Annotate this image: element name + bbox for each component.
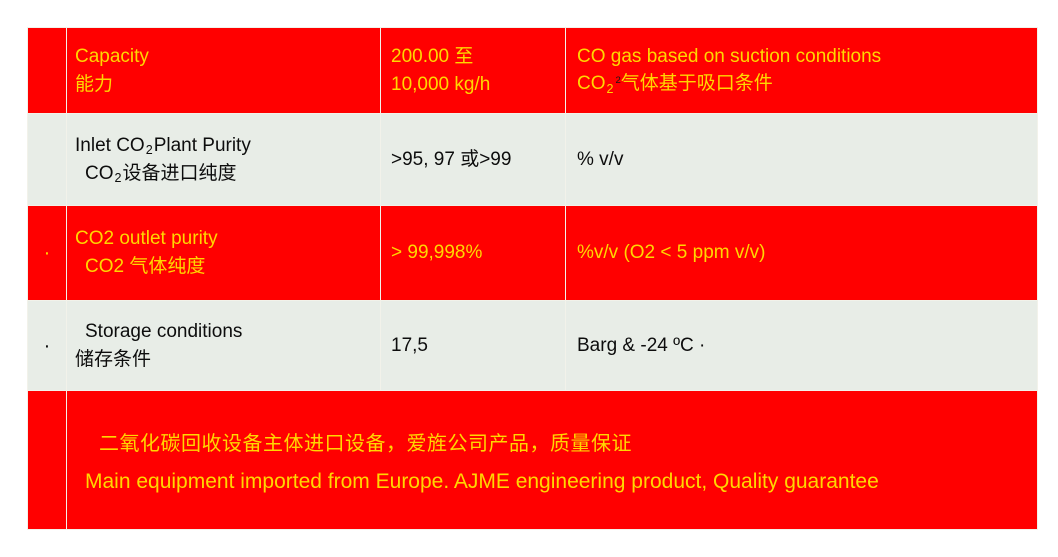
label-cn-suffix-inlet-purity: 设备进口纯度 (122, 163, 236, 184)
row-unit-cell-inlet-purity: % v/v (566, 114, 1038, 206)
row-unit-cell-outlet-purity: %v/v (O2 < 5 ppm v/v) (566, 206, 1038, 301)
label-en-prefix-inlet-purity: Inlet CO (75, 135, 145, 156)
value-line2-capacity: 10,000 kg/h (391, 71, 565, 99)
row-bullet-cell-inlet-purity (28, 114, 67, 206)
table-row-footer: 二氧化碳回收设备主体进口设备，爱旌公司产品，质量保证 Main equipmen… (28, 391, 1038, 530)
unit-block-outlet-purity: %v/v (O2 < 5 ppm v/v) (566, 239, 1037, 267)
row-label-cell-capacity: Capacity 能力 (67, 28, 381, 114)
unit-line2-prefix-capacity: CO (577, 73, 606, 94)
label-en-outlet-purity: CO2 outlet purity (75, 225, 380, 253)
row-bullet-cell-outlet-purity: · (28, 206, 67, 301)
label-block-capacity: Capacity 能力 (67, 43, 380, 98)
footer-text-en: Main equipment imported from Europe. AJM… (85, 470, 1037, 494)
label-block-outlet-purity: CO2 outlet purity CO2 气体纯度 (67, 225, 380, 280)
label-cn-inlet-purity: CO2设备进口纯度 (75, 160, 380, 188)
row-unit-cell-capacity: CO gas based on suction conditions CO22气… (566, 28, 1038, 114)
bullet-marker: · (28, 243, 66, 263)
row-label-cell-storage-conditions: Storage conditions 储存条件 (67, 301, 381, 391)
value-block-inlet-purity: >95, 97 或>99 (381, 146, 565, 174)
value-block-storage-conditions: 17,5 (381, 332, 565, 360)
value-line1-capacity: 200.00 至 (391, 43, 565, 71)
value-line1-storage-conditions: 17,5 (391, 332, 565, 360)
label-en-subscript-inlet-purity: 2 (145, 143, 154, 157)
unit-line2-capacity: CO22气体基于吸口条件 (577, 70, 1037, 98)
label-block-inlet-purity: Inlet CO2Plant Purity CO2设备进口纯度 (67, 132, 380, 187)
unit-line2-suffix-capacity: 气体基于吸口条件 (621, 73, 773, 94)
value-block-outlet-purity: > 99,998% (381, 239, 565, 267)
label-cn-prefix-inlet-purity: CO (85, 163, 114, 184)
unit-line1-inlet-purity: % v/v (577, 146, 1037, 174)
row-value-cell-inlet-purity: >95, 97 或>99 (381, 114, 566, 206)
label-block-storage-conditions: Storage conditions 储存条件 (67, 318, 380, 373)
specification-table: Capacity 能力 200.00 至 10,000 kg/h CO gas … (27, 27, 1038, 530)
unit-line1-capacity: CO gas based on suction conditions (577, 43, 1037, 71)
unit-line1-outlet-purity: %v/v (O2 < 5 ppm v/v) (577, 239, 1037, 267)
footer-guarantee-cell: 二氧化碳回收设备主体进口设备，爱旌公司产品，质量保证 Main equipmen… (67, 391, 1038, 530)
label-cn-outlet-purity: CO2 气体纯度 (75, 253, 380, 281)
footer-text-cn: 二氧化碳回收设备主体进口设备，爱旌公司产品，质量保证 (85, 427, 1037, 456)
label-cn-capacity: 能力 (75, 71, 380, 99)
table-row-inlet-purity: Inlet CO2Plant Purity CO2设备进口纯度 >95, 97 … (28, 114, 1038, 206)
value-line1-outlet-purity: > 99,998% (391, 239, 565, 267)
label-en-suffix-inlet-purity: Plant Purity (154, 135, 251, 156)
row-bullet-cell-footer (28, 391, 67, 530)
row-unit-cell-storage-conditions: Barg & -24 ºC · (566, 301, 1038, 391)
unit-line1-storage-conditions: Barg & -24 ºC · (566, 332, 1037, 360)
footer-text-block: 二氧化碳回收设备主体进口设备，爱旌公司产品，质量保证 Main equipmen… (67, 427, 1037, 494)
row-value-cell-outlet-purity: > 99,998% (381, 206, 566, 301)
label-cn-storage-conditions: 储存条件 (75, 346, 380, 374)
label-en-capacity: Capacity (75, 43, 380, 71)
unit-block-capacity: CO gas based on suction conditions CO22气… (566, 43, 1037, 98)
label-en-storage-conditions: Storage conditions (75, 318, 380, 346)
row-label-cell-outlet-purity: CO2 outlet purity CO2 气体纯度 (67, 206, 381, 301)
row-label-cell-inlet-purity: Inlet CO2Plant Purity CO2设备进口纯度 (67, 114, 381, 206)
row-bullet-cell-storage-conditions: · (28, 301, 67, 391)
row-bullet-cell-capacity (28, 28, 67, 114)
unit-block-inlet-purity: % v/v (566, 146, 1037, 174)
bullet-marker: · (28, 336, 66, 356)
table-row-storage-conditions: · Storage conditions 储存条件 17,5 Barg & -2… (28, 301, 1038, 391)
specification-table-body: Capacity 能力 200.00 至 10,000 kg/h CO gas … (28, 28, 1038, 530)
table-row-outlet-purity: · CO2 outlet purity CO2 气体纯度 > 99,998% %… (28, 206, 1038, 301)
value-line1-inlet-purity: >95, 97 或>99 (391, 146, 565, 174)
row-value-cell-storage-conditions: 17,5 (381, 301, 566, 391)
label-en-inlet-purity: Inlet CO2Plant Purity (75, 132, 380, 160)
table-row-capacity: Capacity 能力 200.00 至 10,000 kg/h CO gas … (28, 28, 1038, 114)
row-value-cell-capacity: 200.00 至 10,000 kg/h (381, 28, 566, 114)
value-block-capacity: 200.00 至 10,000 kg/h (381, 43, 565, 98)
